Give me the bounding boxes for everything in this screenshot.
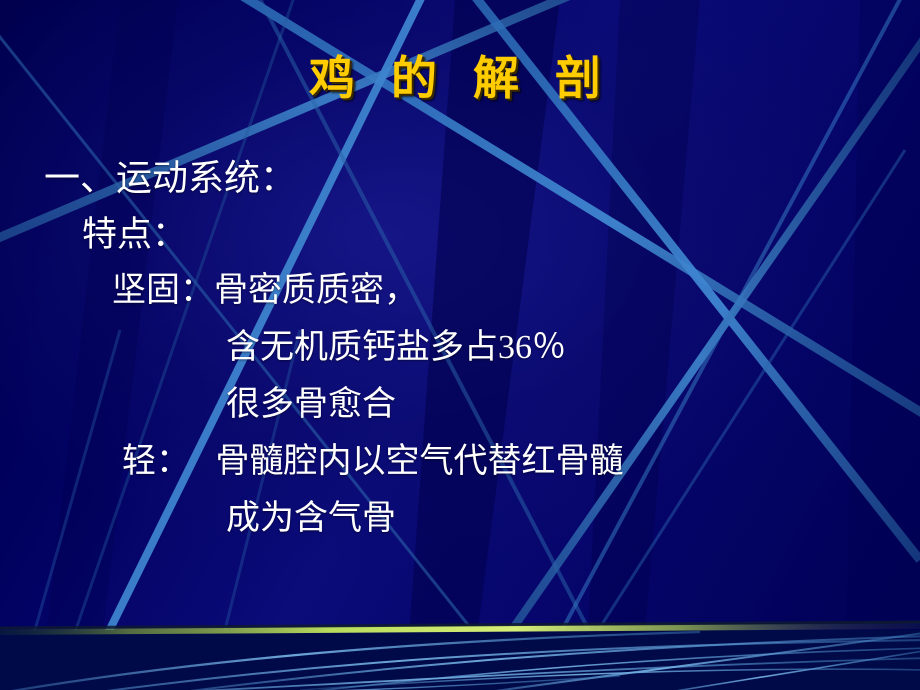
slide-title: 鸡 的 解 剖 xyxy=(0,52,920,105)
presentation-slide: 鸡 的 解 剖 一、运动系统：特点：坚固：骨密质质密，含无机质钙盐多占36％很多… xyxy=(0,0,920,690)
slide-body-text: 一、运动系统：特点：坚固：骨密质质密，含无机质钙盐多占36％很多骨愈合轻： 骨髓… xyxy=(0,160,920,559)
body-line: 一、运动系统： xyxy=(0,160,920,217)
body-line: 成为含气骨 xyxy=(0,502,920,559)
body-line: 坚固：骨密质质密， xyxy=(0,274,920,331)
body-line: 含无机质钙盐多占36％ xyxy=(0,331,920,388)
body-line: 轻： 骨髓腔内以空气代替红骨髓 xyxy=(0,445,920,502)
body-line: 很多骨愈合 xyxy=(0,388,920,445)
body-line: 特点： xyxy=(0,217,920,274)
